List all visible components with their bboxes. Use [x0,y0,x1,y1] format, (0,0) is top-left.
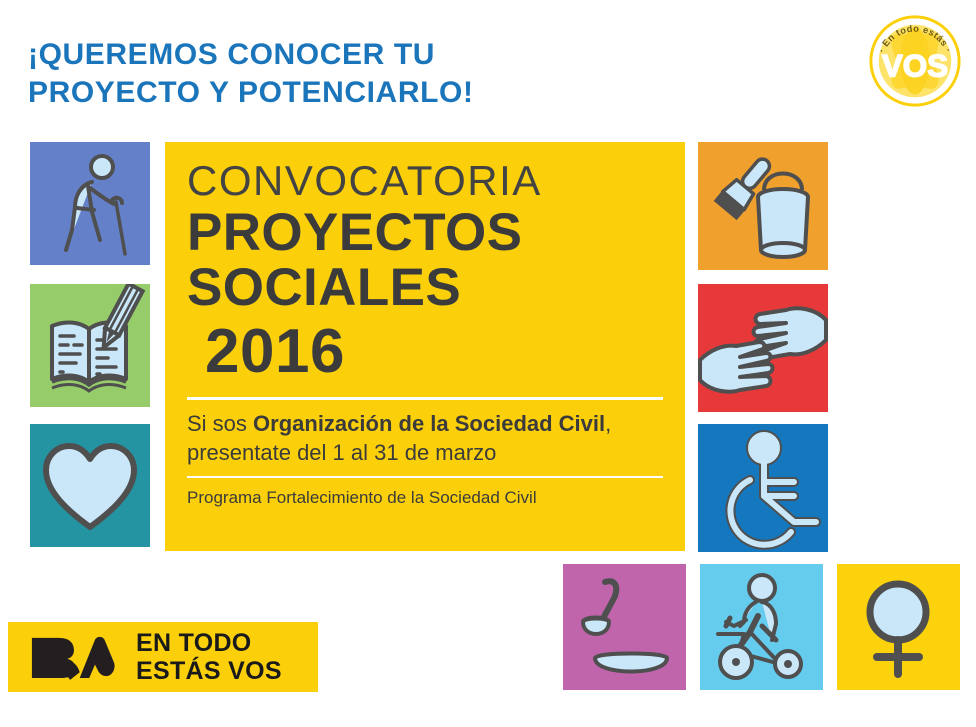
panel-footer: Programa Fortalecimiento de la Sociedad … [187,487,663,508]
panel-title-line-2: SOCIALES [187,260,663,315]
headline-line-2: proyecto y potenciarlo! [28,74,648,112]
ba-tagline-line-1: En todo [136,629,282,657]
tile-wheelchair-accessibility [698,424,828,552]
tile-child-on-tricycle [700,564,823,690]
female-gender-symbol-icon [870,584,926,674]
ba-tagline-line-2: Estás vos [136,657,282,685]
tile-female-gender-symbol [837,564,960,690]
tile-ladle-and-bowl [563,564,686,690]
subtitle-prefix: Si sos [187,411,253,436]
panel-year: 2016 [205,321,663,383]
tile-elderly-person [30,142,150,265]
panel-title-line-1: PROYECTOS [187,203,522,262]
tile-heart [30,424,150,547]
ba-monogram-icon [30,634,116,680]
headline-line-1: ¡Queremos conocer tu [28,38,435,71]
divider-bottom [187,476,663,478]
tile-book-and-pencil [30,284,150,407]
page-title: ¡Queremos conocer tu proyecto y potencia… [28,36,648,113]
panel-kicker: CONVOCATORIA [187,160,663,203]
vos-wordmark: VOS [882,49,948,84]
vos-logo: · En todo estás · VOS [866,12,964,110]
ba-logo-badge: En todo Estás vos [8,622,318,692]
ba-tagline: En todo Estás vos [136,629,282,685]
tile-paint-brush-and-bucket [698,142,828,270]
panel-title: PROYECTOS SOCIALES [187,205,663,315]
divider-top [187,397,663,400]
subtitle-bold: Organización de la Sociedad Civil [253,411,605,436]
tile-two-hands-reaching [698,284,828,412]
poster-canvas: ¡Queremos conocer tu proyecto y potencia… [0,0,976,727]
announcement-panel: CONVOCATORIA PROYECTOS SOCIALES 2016 Si … [165,142,685,551]
panel-subtitle: Si sos Organización de la Sociedad Civil… [187,410,663,467]
